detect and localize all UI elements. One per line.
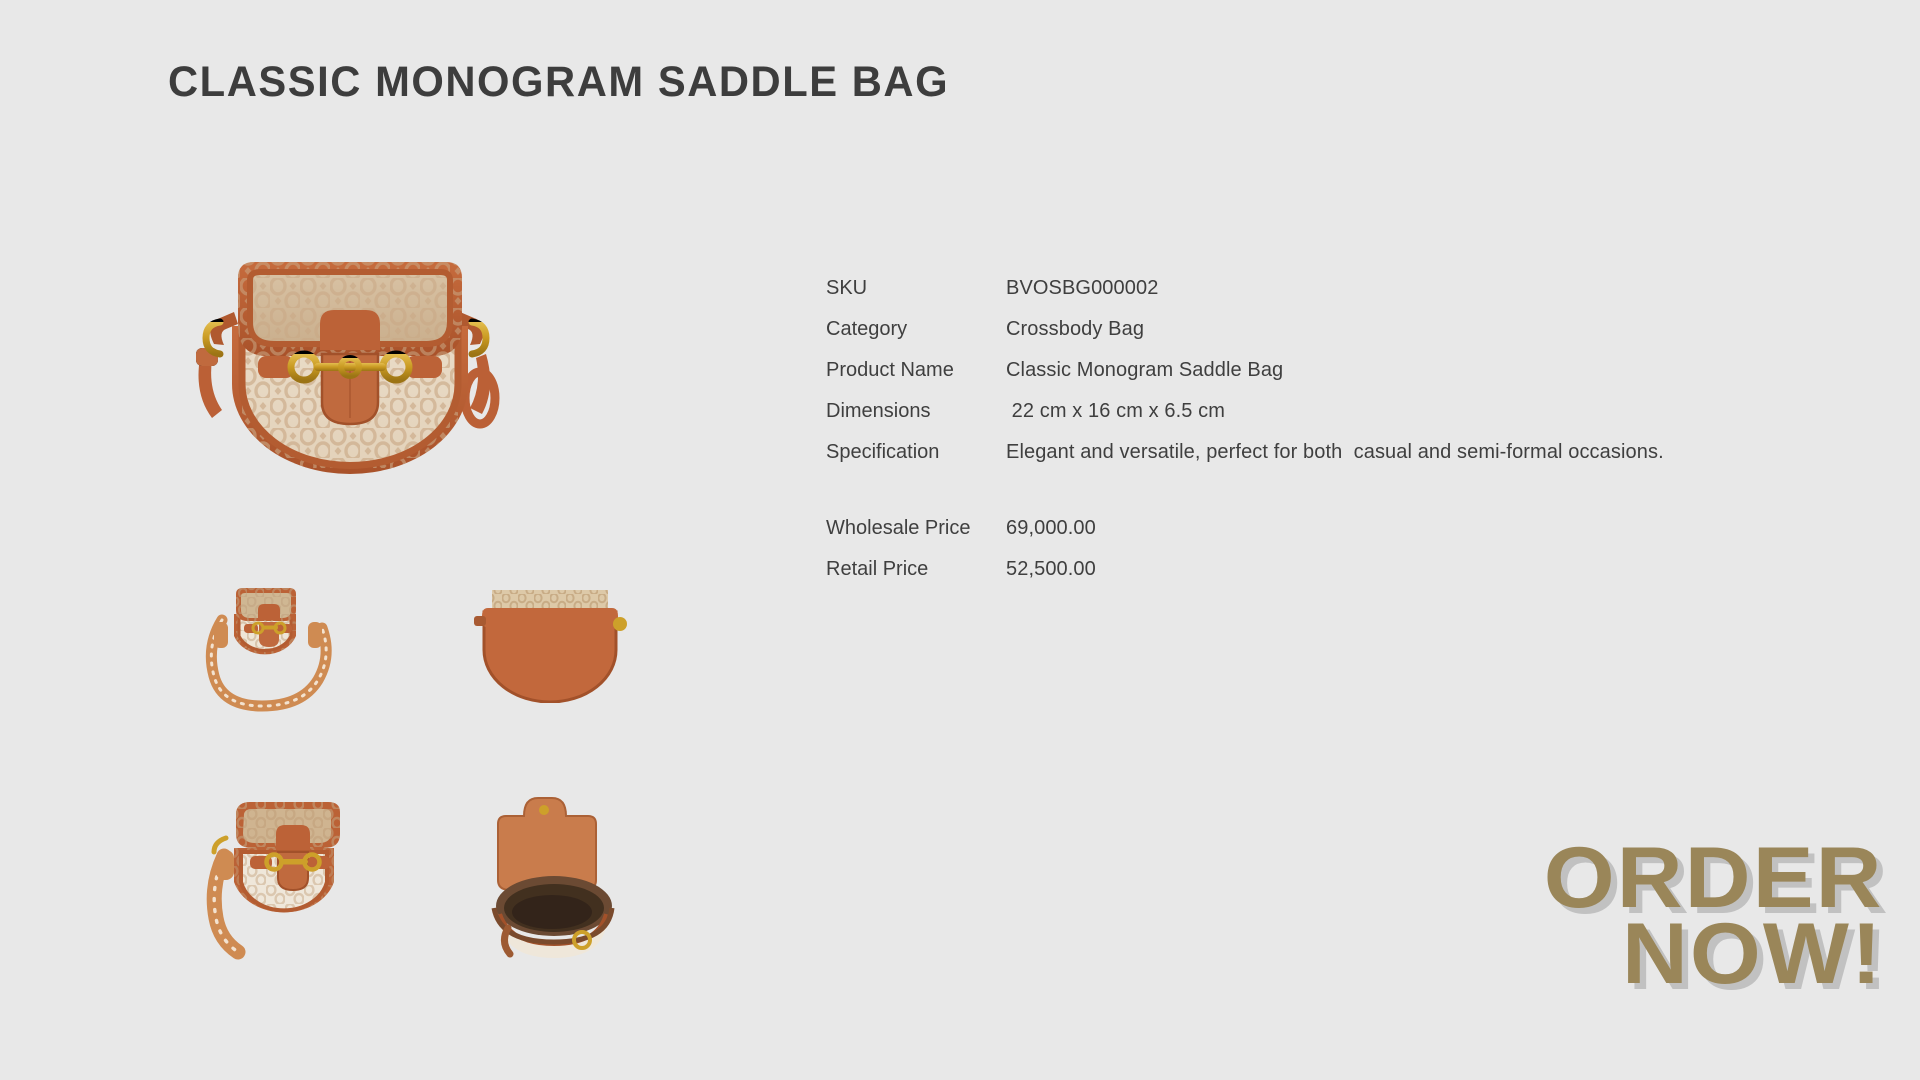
spec-label-dimensions: Dimensions (826, 400, 1006, 423)
saddle-bag-interior-open (478, 788, 628, 968)
order-now-line2: NOW! (1544, 918, 1884, 992)
spec-value-wholesale-price: 69,000.00 (1006, 517, 1096, 540)
spec-label-product-name: Product Name (826, 359, 1006, 382)
order-now-callout[interactable]: ORDER NOW! (1563, 842, 1884, 992)
spec-value-product-name: Classic Monogram Saddle Bag (1006, 359, 1283, 382)
saddle-bag-back-view (470, 578, 630, 708)
spec-value-specification: Elegant and versatile, perfect for both … (1006, 441, 1664, 464)
spec-label-category: Category (826, 318, 1006, 341)
table-row: Wholesale Price 69,000.00 (826, 517, 1664, 558)
saddle-bag-angled-view (190, 790, 390, 975)
spacer (826, 482, 1664, 517)
spec-label-specification: Specification (826, 441, 1006, 464)
saddle-bag-front-view (180, 248, 520, 483)
table-row: Category Crossbody Bag (826, 318, 1664, 359)
spec-label-retail-price: Retail Price (826, 558, 1006, 581)
product-spec-table: SKU BVOSBG000002 Category Crossbody Bag … (826, 277, 1664, 599)
spec-value-dimensions: 22 cm x 16 cm x 6.5 cm (1006, 400, 1225, 423)
table-row: Product Name Classic Monogram Saddle Bag (826, 359, 1664, 400)
spec-label-wholesale-price: Wholesale Price (826, 517, 1006, 540)
table-row: Retail Price 52,500.00 (826, 558, 1664, 599)
saddle-bag-with-woven-strap (196, 580, 396, 725)
product-sheet: CLASSIC MONOGRAM SADDLE BAG (0, 0, 1920, 1080)
spec-value-category: Crossbody Bag (1006, 318, 1144, 341)
spec-value-retail-price: 52,500.00 (1006, 558, 1096, 581)
table-row: Specification Elegant and versatile, per… (826, 441, 1664, 482)
page-title: CLASSIC MONOGRAM SADDLE BAG (168, 58, 949, 107)
table-row: SKU BVOSBG000002 (826, 277, 1664, 318)
table-row: Dimensions 22 cm x 16 cm x 6.5 cm (826, 400, 1664, 441)
spec-value-sku: BVOSBG000002 (1006, 277, 1158, 300)
order-now-line1: ORDER (1544, 842, 1884, 916)
spec-label-sku: SKU (826, 277, 1006, 300)
